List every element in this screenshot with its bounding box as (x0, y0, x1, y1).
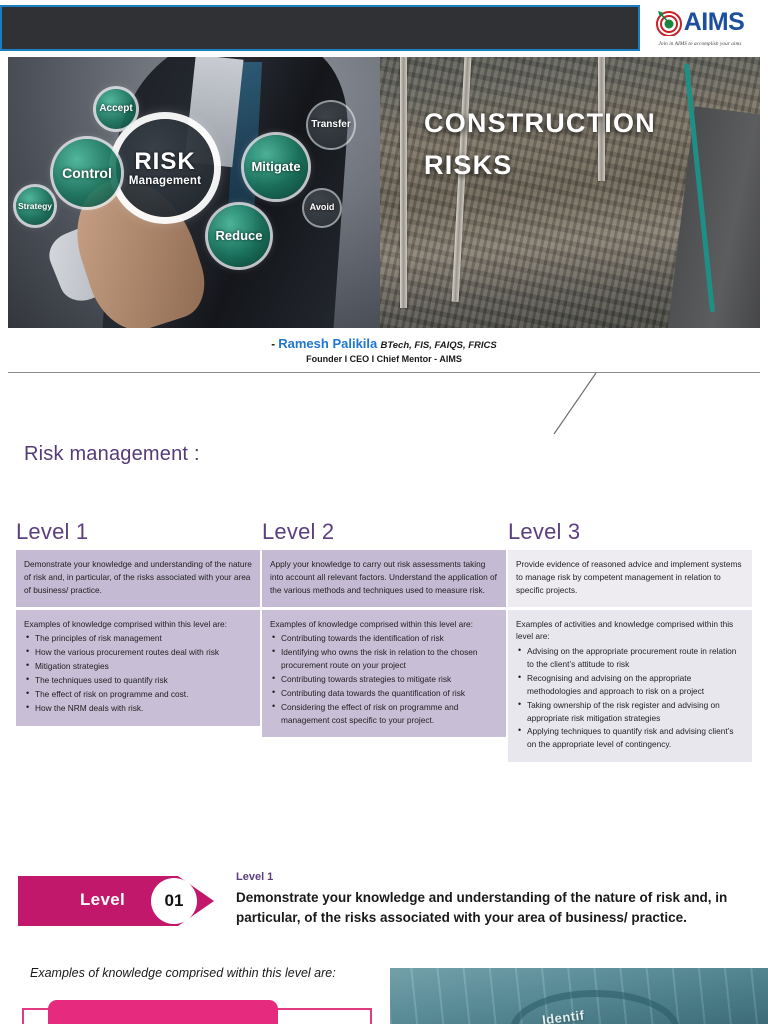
level-2-summary-text: Apply your knowledge to carry out risk a… (270, 559, 497, 595)
level-2-examples-cell: Examples of knowledge comprised within t… (262, 610, 506, 738)
gear-risk-label: RISK (134, 149, 195, 174)
page-title: Risk management : (24, 443, 200, 466)
level-01-banner: Level 01 (18, 876, 218, 926)
banner-level-label: Level (80, 890, 125, 910)
list-item: Mitigation strategies (24, 660, 252, 673)
byline-author-line: - Ramesh Palikila BTech, FIS, FAIQS, FRI… (0, 336, 768, 351)
level-2-column: Level 2 Apply your knowledge to carry ou… (262, 519, 506, 762)
banner-number-circle: 01 (151, 878, 197, 924)
risk-management-gears-image: RISK Management Accept Control Strategy … (8, 57, 380, 328)
logo-row: AIMS (656, 10, 745, 36)
gear-transfer: Transfer (308, 102, 354, 148)
list-item: Contributing towards the identification … (270, 632, 498, 645)
level-3-summary-cell: Provide evidence of reasoned advice and … (508, 550, 752, 607)
list-item: The principles of risk management (24, 632, 252, 645)
author-credentials: BTech, FIS, FAIQS, FRICS (380, 340, 496, 351)
level-3-column: Level 3 Provide evidence of reasoned adv… (508, 519, 752, 762)
logo-wordmark: AIMS (684, 10, 745, 35)
gear-risk-management: RISK Management (116, 119, 214, 217)
gear-accept: Accept (96, 89, 136, 129)
list-item: How the various procurement routes deal … (24, 646, 252, 659)
level-1-heading: Level 1 (16, 519, 260, 550)
horizontal-divider (8, 372, 760, 373)
level-1-examples-intro: Examples of knowledge comprised within t… (24, 619, 227, 629)
construction-risks-caption: CONSTRUCTION RISKS (424, 103, 656, 187)
list-item: Contributing towards strategies to mitig… (270, 673, 498, 686)
author-role: Founder I CEO I Chief Mentor - AIMS (0, 354, 768, 364)
list-item: The techniques used to quantify risk (24, 674, 252, 687)
pink-node-pill (48, 1000, 278, 1024)
target-icon (656, 10, 682, 36)
gear-mitigate: Mitigate (244, 135, 308, 199)
construction-site-image: CONSTRUCTION RISKS (380, 57, 760, 328)
level-3-summary-text: Provide evidence of reasoned advice and … (516, 559, 742, 595)
level-3-examples-list: Advising on the appropriate procurement … (516, 645, 744, 751)
caption-line-2: RISKS (424, 145, 656, 187)
aims-logo: AIMS Join in AIMS to accomplish your aim… (638, 2, 762, 54)
level-2-examples-intro: Examples of knowledge comprised within t… (270, 619, 473, 629)
risk-cycle-image: Identif (390, 968, 768, 1024)
level-1-summary-text: Demonstrate your knowledge and understan… (24, 559, 252, 595)
level-1-examples-list: The principles of risk management How th… (24, 632, 252, 714)
gear-strategy: Strategy (16, 187, 54, 225)
gear-reduce: Reduce (208, 205, 270, 267)
level-1-detail-body: Demonstrate your knowledge and understan… (236, 888, 746, 929)
level-3-examples-intro: Examples of activities and knowledge com… (516, 619, 733, 642)
level-2-examples-list: Contributing towards the identification … (270, 632, 498, 726)
hero-images: RISK Management Accept Control Strategy … (8, 57, 760, 328)
list-item: Considering the effect of risk on progra… (270, 701, 498, 727)
level-1-detail-heading: Level 1 (236, 871, 273, 883)
caption-line-1: CONSTRUCTION (424, 103, 656, 145)
level-1-summary-cell: Demonstrate your knowledge and understan… (16, 550, 260, 607)
level-1-examples-cell: Examples of knowledge comprised within t… (16, 610, 260, 726)
level-3-examples-cell: Examples of activities and knowledge com… (508, 610, 752, 763)
gear-management-label: Management (129, 175, 201, 187)
gear-control: Control (53, 139, 121, 207)
examples-note: Examples of knowledge comprised within t… (30, 966, 336, 980)
list-item: Recognising and advising on the appropri… (516, 672, 744, 698)
level-2-heading: Level 2 (262, 519, 506, 550)
list-item: Taking ownership of the risk register an… (516, 699, 744, 725)
diagonal-accent-line (552, 372, 600, 436)
author-name: Ramesh Palikila (278, 336, 377, 351)
level-3-heading: Level 3 (508, 519, 752, 550)
crane-mast-1 (400, 57, 407, 308)
list-item: Identifying who owns the risk in relatio… (270, 646, 498, 672)
gear-avoid: Avoid (304, 190, 340, 226)
logo-tagline: Join in AIMS to accomplish your aims (658, 41, 741, 47)
list-item: Applying techniques to quantify risk and… (516, 725, 744, 751)
list-item: The effect of risk on programme and cost… (24, 688, 252, 701)
list-item: How the NRM deals with risk. (24, 702, 252, 715)
byline: - Ramesh Palikila BTech, FIS, FAIQS, FRI… (0, 336, 768, 364)
levels-table: Level 1 Demonstrate your knowledge and u… (16, 519, 752, 762)
level-1-column: Level 1 Demonstrate your knowledge and u… (16, 519, 260, 762)
level-2-summary-cell: Apply your knowledge to carry out risk a… (262, 550, 506, 607)
list-item: Contributing data towards the quantifica… (270, 687, 498, 700)
top-dark-banner (0, 5, 640, 51)
list-item: Advising on the appropriate procurement … (516, 645, 744, 671)
